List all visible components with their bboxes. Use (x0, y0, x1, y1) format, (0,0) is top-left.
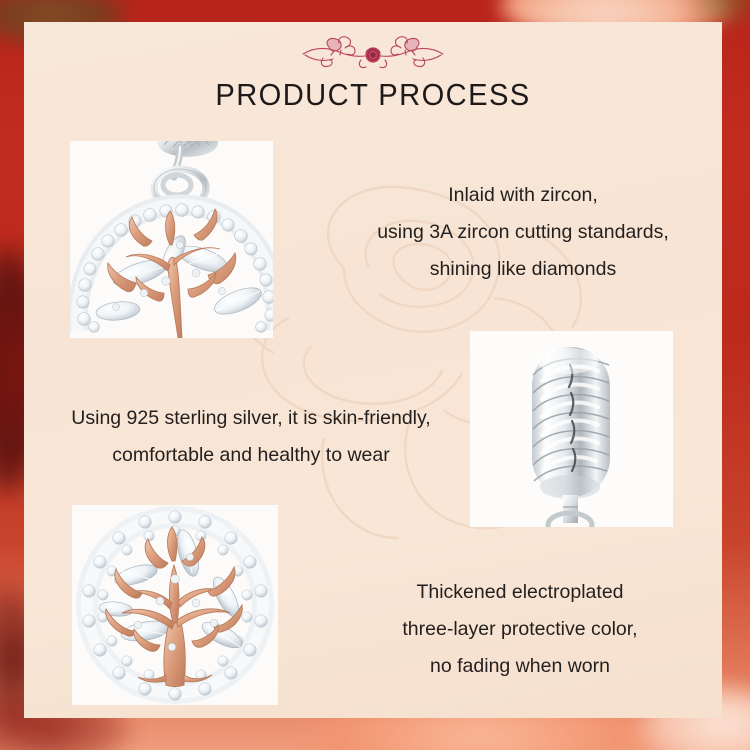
tree-of-life-medallion-photo (72, 505, 278, 705)
twisted-silver-rope-photo (470, 331, 673, 527)
feature-line: Using 925 sterling silver, it is skin-fr… (24, 400, 486, 437)
feature-line: Inlaid with zircon, (334, 177, 712, 214)
tree-of-life-pendant-closeup-photo (70, 141, 273, 338)
floral-divider-ornament (293, 34, 453, 70)
feature-text-zircon: Inlaid with zircon, using 3A zircon cutt… (334, 177, 712, 288)
feature-line: no fading when worn (350, 648, 690, 685)
feature-line: shining like diamonds (334, 251, 712, 288)
feature-line: comfortable and healthy to wear (24, 437, 486, 474)
feature-text-silver: Using 925 sterling silver, it is skin-fr… (24, 400, 486, 474)
page-title: PRODUCT PROCESS (45, 77, 701, 113)
feature-text-plating: Thickened electroplated three-layer prot… (350, 574, 690, 685)
feature-line: using 3A zircon cutting standards, (334, 214, 712, 251)
infographic-frame: PRODUCT PROCESS (0, 0, 750, 750)
content-panel: PRODUCT PROCESS (24, 22, 722, 718)
feature-line: three-layer protective color, (350, 611, 690, 648)
feature-line: Thickened electroplated (350, 574, 690, 611)
